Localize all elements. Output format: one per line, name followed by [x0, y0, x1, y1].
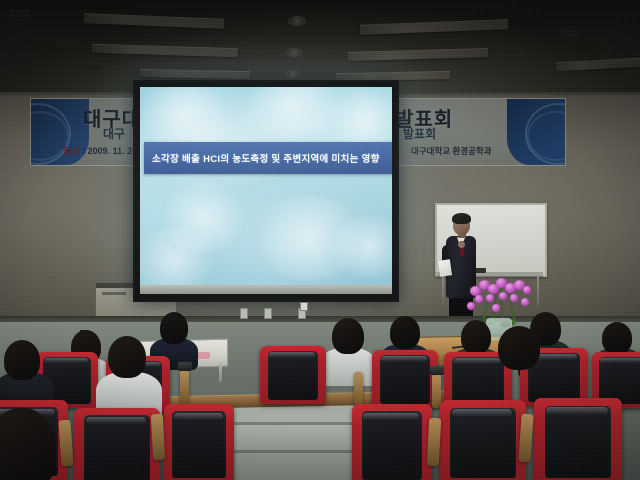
audience-head — [108, 336, 146, 378]
projection-screen: 소각장 배출 HCl의 농도측정 및 주변지역에 미치는 영향 — [133, 80, 399, 302]
audience-member — [0, 408, 80, 480]
seat-highlight — [363, 413, 419, 420]
audience-head — [332, 318, 364, 354]
auditorium-photo: 대구대 대구 일시 : 2009. 11. 20(금) 발표회 발표회 대구대학… — [0, 0, 640, 480]
auditorium-seat[interactable] — [164, 404, 234, 480]
seat-highlight — [454, 358, 502, 363]
orchid-flower — [492, 304, 500, 312]
audience-head — [498, 326, 540, 370]
slide-title-bar: 소각장 배출 HCl의 농도측정 및 주변지역에 미치는 영향 — [144, 142, 392, 174]
seat-cushion — [84, 415, 149, 480]
seat-armrest — [151, 414, 165, 461]
auditorium-seat[interactable] — [74, 408, 160, 480]
audience-member — [498, 326, 552, 384]
audience-member — [96, 336, 162, 412]
radiator-vent — [102, 292, 126, 295]
audience-head — [4, 340, 40, 380]
seat-armrest — [180, 370, 189, 404]
center-aisle — [218, 398, 368, 480]
seat-highlight — [269, 352, 315, 357]
auditorium-seat[interactable] — [440, 400, 526, 480]
wall-outlet-icon — [264, 308, 272, 319]
orchid-flower — [499, 292, 507, 300]
audience-head — [0, 408, 56, 480]
seat-cushion — [545, 406, 612, 478]
seat-cushion — [599, 357, 640, 404]
seat-cushion — [172, 411, 225, 478]
auditorium-seat[interactable] — [352, 404, 432, 480]
wall-outlet-icon — [300, 302, 308, 311]
auditorium-seat[interactable] — [534, 398, 622, 480]
seat-highlight — [546, 407, 608, 415]
seat-highlight — [174, 413, 223, 420]
audience-head — [602, 322, 632, 354]
audience-head — [160, 312, 188, 344]
table-leg — [219, 362, 222, 382]
seat-cushion — [362, 411, 423, 480]
seat-cushion — [450, 408, 515, 479]
wall-outlet-icon — [240, 308, 248, 319]
seat-armrest — [354, 372, 363, 406]
presenter-hand — [458, 241, 465, 248]
orchid-flower — [510, 294, 518, 302]
projection-screen-surface: 소각장 배출 HCl의 농도측정 및 주변지역에 미치는 영향 — [140, 87, 392, 287]
slide-title-text: 소각장 배출 HCl의 농도측정 및 주변지역에 미치는 영향 — [144, 151, 380, 165]
orchid-flower — [523, 286, 531, 294]
seat-cushion — [452, 357, 504, 406]
seat-highlight — [600, 358, 640, 363]
orchid-flower — [521, 298, 529, 306]
auditorium-seat[interactable] — [260, 346, 326, 404]
seat-highlight — [86, 417, 146, 424]
orchid-flower — [475, 295, 483, 303]
seat-highlight — [381, 356, 427, 361]
audience-head — [461, 320, 491, 354]
seat-cushion — [380, 355, 430, 404]
audience-member — [320, 318, 376, 380]
presenter-hair — [452, 213, 471, 224]
seat-highlight — [452, 409, 512, 417]
seat-tablet-arm — [430, 366, 444, 375]
auditorium-seat[interactable] — [372, 350, 438, 408]
presenter-papers — [438, 259, 452, 277]
seat-cushion — [268, 351, 318, 400]
audience-head — [390, 316, 420, 349]
orchid-flower — [486, 294, 494, 302]
seat-tablet-arm — [178, 362, 192, 371]
screen-bottom-trim — [140, 285, 392, 294]
orchid-flower — [467, 302, 475, 310]
seat-armrest — [427, 418, 441, 467]
